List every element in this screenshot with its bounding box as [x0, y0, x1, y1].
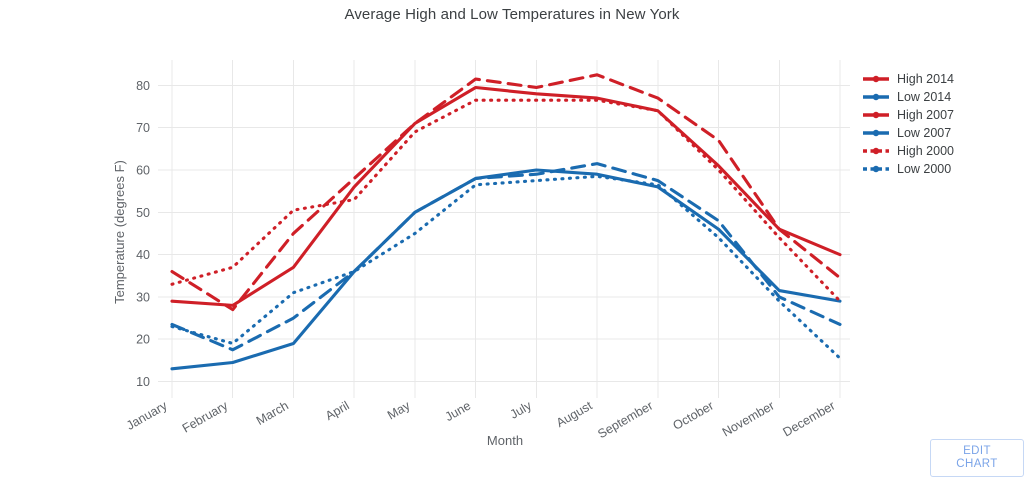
line-chart-widget: Average High and Low Temperatures in New…	[0, 0, 1024, 474]
y-tick-label: 50	[136, 206, 150, 220]
x-tick-label: December	[781, 398, 838, 439]
legend-item[interactable]: Low 2014	[862, 88, 1022, 106]
x-tick-label: August	[554, 398, 595, 430]
legend-swatch-icon	[862, 126, 890, 140]
legend-item[interactable]: High 2007	[862, 106, 1022, 124]
x-axis-ticks: JanuaryFebruaryMarchAprilMayJuneJulyAugu…	[124, 398, 838, 441]
y-tick-label: 60	[136, 164, 150, 178]
y-tick-label: 20	[136, 333, 150, 347]
x-tick-label: June	[443, 398, 474, 424]
legend-item-label: Low 2000	[897, 162, 951, 176]
x-tick-label: February	[180, 398, 231, 436]
legend-swatch-icon	[862, 162, 890, 176]
legend-item-label: High 2014	[897, 72, 954, 86]
x-tick-label: January	[124, 398, 170, 433]
series-line	[172, 75, 840, 310]
gridlines	[158, 60, 850, 398]
y-tick-label: 80	[136, 79, 150, 93]
legend-swatch-icon	[862, 72, 890, 86]
y-tick-label: 70	[136, 121, 150, 135]
y-axis-ticks: 1020304050607080	[136, 79, 150, 389]
legend-item[interactable]: Low 2007	[862, 124, 1022, 142]
legend-swatch-icon	[862, 144, 890, 158]
x-tick-label: March	[254, 398, 291, 428]
data-series	[172, 75, 840, 369]
legend-item[interactable]: High 2000	[862, 142, 1022, 160]
legend-item[interactable]: High 2014	[862, 70, 1022, 88]
x-axis-label: Month	[487, 433, 523, 448]
x-tick-label: September	[595, 398, 655, 441]
series-line	[172, 88, 840, 306]
legend-swatch-icon	[862, 90, 890, 104]
series-line	[172, 164, 840, 350]
y-tick-label: 40	[136, 248, 150, 262]
series-line	[172, 176, 840, 358]
x-tick-label: October	[671, 398, 717, 432]
legend-item[interactable]: Low 2000	[862, 160, 1022, 178]
edit-chart-button[interactable]: EDIT CHART	[930, 439, 1024, 477]
x-tick-label: July	[508, 398, 535, 422]
series-line	[172, 100, 840, 301]
y-tick-label: 30	[136, 290, 150, 304]
x-tick-label: November	[720, 398, 777, 439]
x-tick-label: May	[385, 398, 413, 422]
chart-legend: High 2014Low 2014High 2007Low 2007High 2…	[862, 70, 1022, 178]
legend-swatch-icon	[862, 108, 890, 122]
legend-item-label: Low 2014	[897, 90, 951, 104]
x-tick-label: April	[323, 398, 352, 423]
legend-item-label: Low 2007	[897, 126, 951, 140]
legend-item-label: High 2007	[897, 108, 954, 122]
y-axis-label: Temperature (degrees F)	[112, 160, 127, 304]
y-tick-label: 10	[136, 375, 150, 389]
legend-item-label: High 2000	[897, 144, 954, 158]
